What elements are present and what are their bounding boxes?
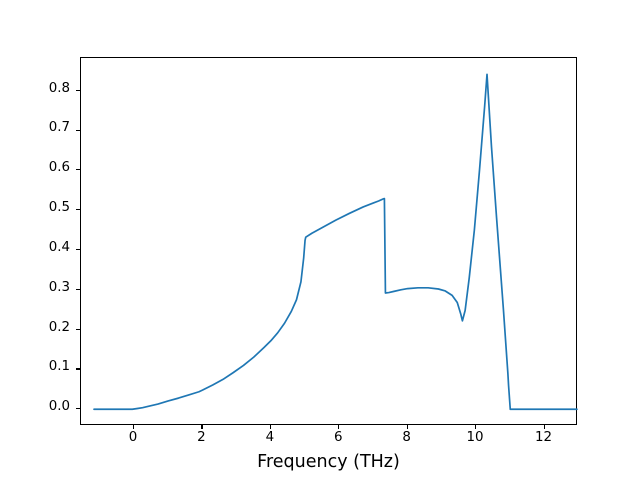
x-tick-label: 8 xyxy=(387,430,427,445)
matplotlib-figure: Partial Density of States Frequency (THz… xyxy=(0,0,640,480)
x-tick-label: 2 xyxy=(181,430,221,445)
x-tick-label: 12 xyxy=(523,430,563,445)
y-tick-label: 0.4 xyxy=(0,240,77,255)
y-tick-label: 0.7 xyxy=(0,120,77,135)
y-tick-label: 0.2 xyxy=(0,320,77,335)
pdos-line-plot xyxy=(81,58,578,426)
y-tick-label: 0.6 xyxy=(0,160,77,175)
x-axis-label: Frequency (THz) xyxy=(80,452,577,472)
pdos-series-line xyxy=(94,74,577,409)
x-tick-label: 10 xyxy=(455,430,495,445)
y-tick-label: 0.0 xyxy=(0,399,77,414)
plot-axes-frame xyxy=(80,57,577,425)
x-tick-label: 0 xyxy=(113,430,153,445)
x-tick-label: 6 xyxy=(318,430,358,445)
x-tick-label: 4 xyxy=(250,430,290,445)
y-tick-label: 0.1 xyxy=(0,359,77,374)
y-tick-label: 0.5 xyxy=(0,200,77,215)
y-tick-label: 0.3 xyxy=(0,280,77,295)
y-tick-label: 0.8 xyxy=(0,81,77,96)
